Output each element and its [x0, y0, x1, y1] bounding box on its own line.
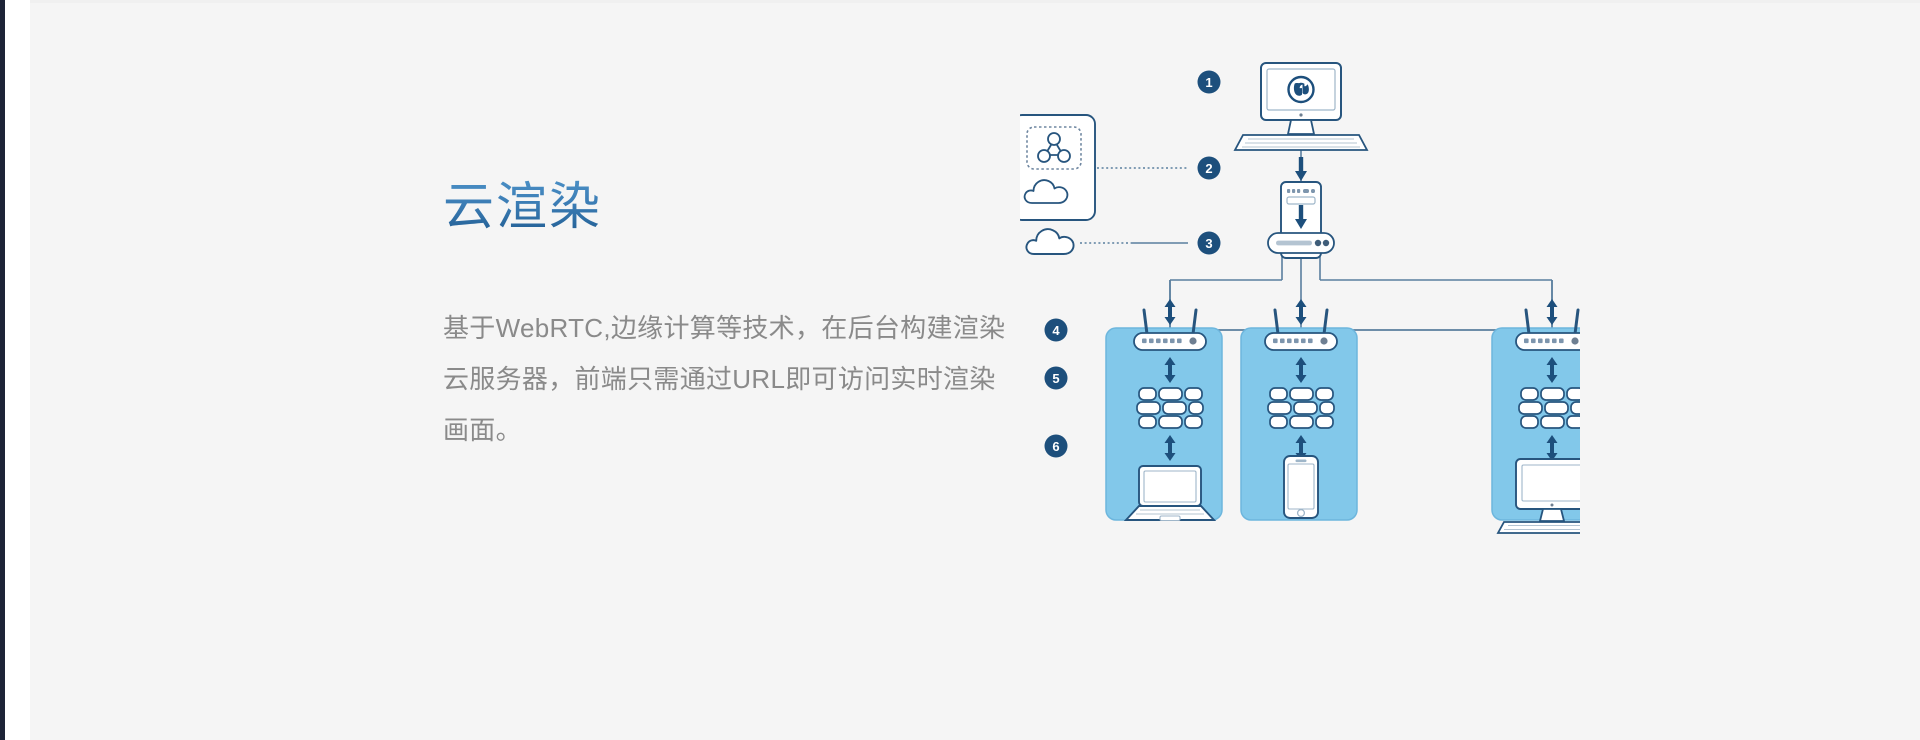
badge-2: 2: [1198, 157, 1221, 180]
cloud-render-architecture-diagram: 1 2 3 4 5 6: [1020, 40, 1580, 670]
badge-4: 4: [1045, 319, 1068, 342]
left-gutter: [5, 0, 30, 740]
firewall-brick-icon-1: [1137, 388, 1203, 428]
laptop-icon: [1126, 466, 1214, 521]
text-column: 云渲染 基于WebRTC,边缘计算等技术，在后台构建渲染云服务器，前端只需通过U…: [443, 178, 1023, 456]
smartphone-icon: [1284, 456, 1318, 518]
page-title: 云渲染: [443, 178, 1023, 237]
firewall-brick-icon-3: [1519, 388, 1580, 428]
badge-4-label: 4: [1052, 323, 1060, 338]
badge-5: 5: [1045, 367, 1068, 390]
unreal-engine-workstation: [1235, 63, 1367, 150]
description-text: 基于WebRTC,边缘计算等技术，在后台构建渲染云服务器，前端只需通过URL即可…: [443, 303, 1009, 456]
arrow-bus-to-router-1: [1165, 299, 1176, 325]
badge-3-label: 3: [1205, 236, 1212, 251]
firewall-brick-icon-2: [1268, 388, 1334, 428]
keyboard-icon: [1235, 135, 1367, 150]
badge-1-label: 1: [1205, 75, 1212, 90]
badge-6: 6: [1045, 435, 1068, 458]
cloud-network-node-panel: [1020, 115, 1095, 220]
top-divider: [30, 0, 1920, 3]
monitor-led: [1299, 113, 1302, 116]
badge-1: 1: [1198, 71, 1221, 94]
badge-2-label: 2: [1205, 161, 1212, 176]
badge-6-label: 6: [1052, 439, 1059, 454]
switch-icon: [1268, 233, 1334, 253]
arrow-bus-to-router-2: [1296, 299, 1307, 325]
arrow-bus-to-router-3: [1547, 299, 1558, 325]
badge-5-label: 5: [1052, 371, 1059, 386]
page-root: 云渲染 基于WebRTC,边缘计算等技术，在后台构建渲染云服务器，前端只需通过U…: [0, 0, 1920, 740]
monitor-stand: [1288, 120, 1314, 134]
badge-3: 3: [1198, 232, 1221, 255]
arrow-workstation-to-server: [1295, 157, 1307, 181]
cloud-icon-small: [1026, 229, 1073, 254]
